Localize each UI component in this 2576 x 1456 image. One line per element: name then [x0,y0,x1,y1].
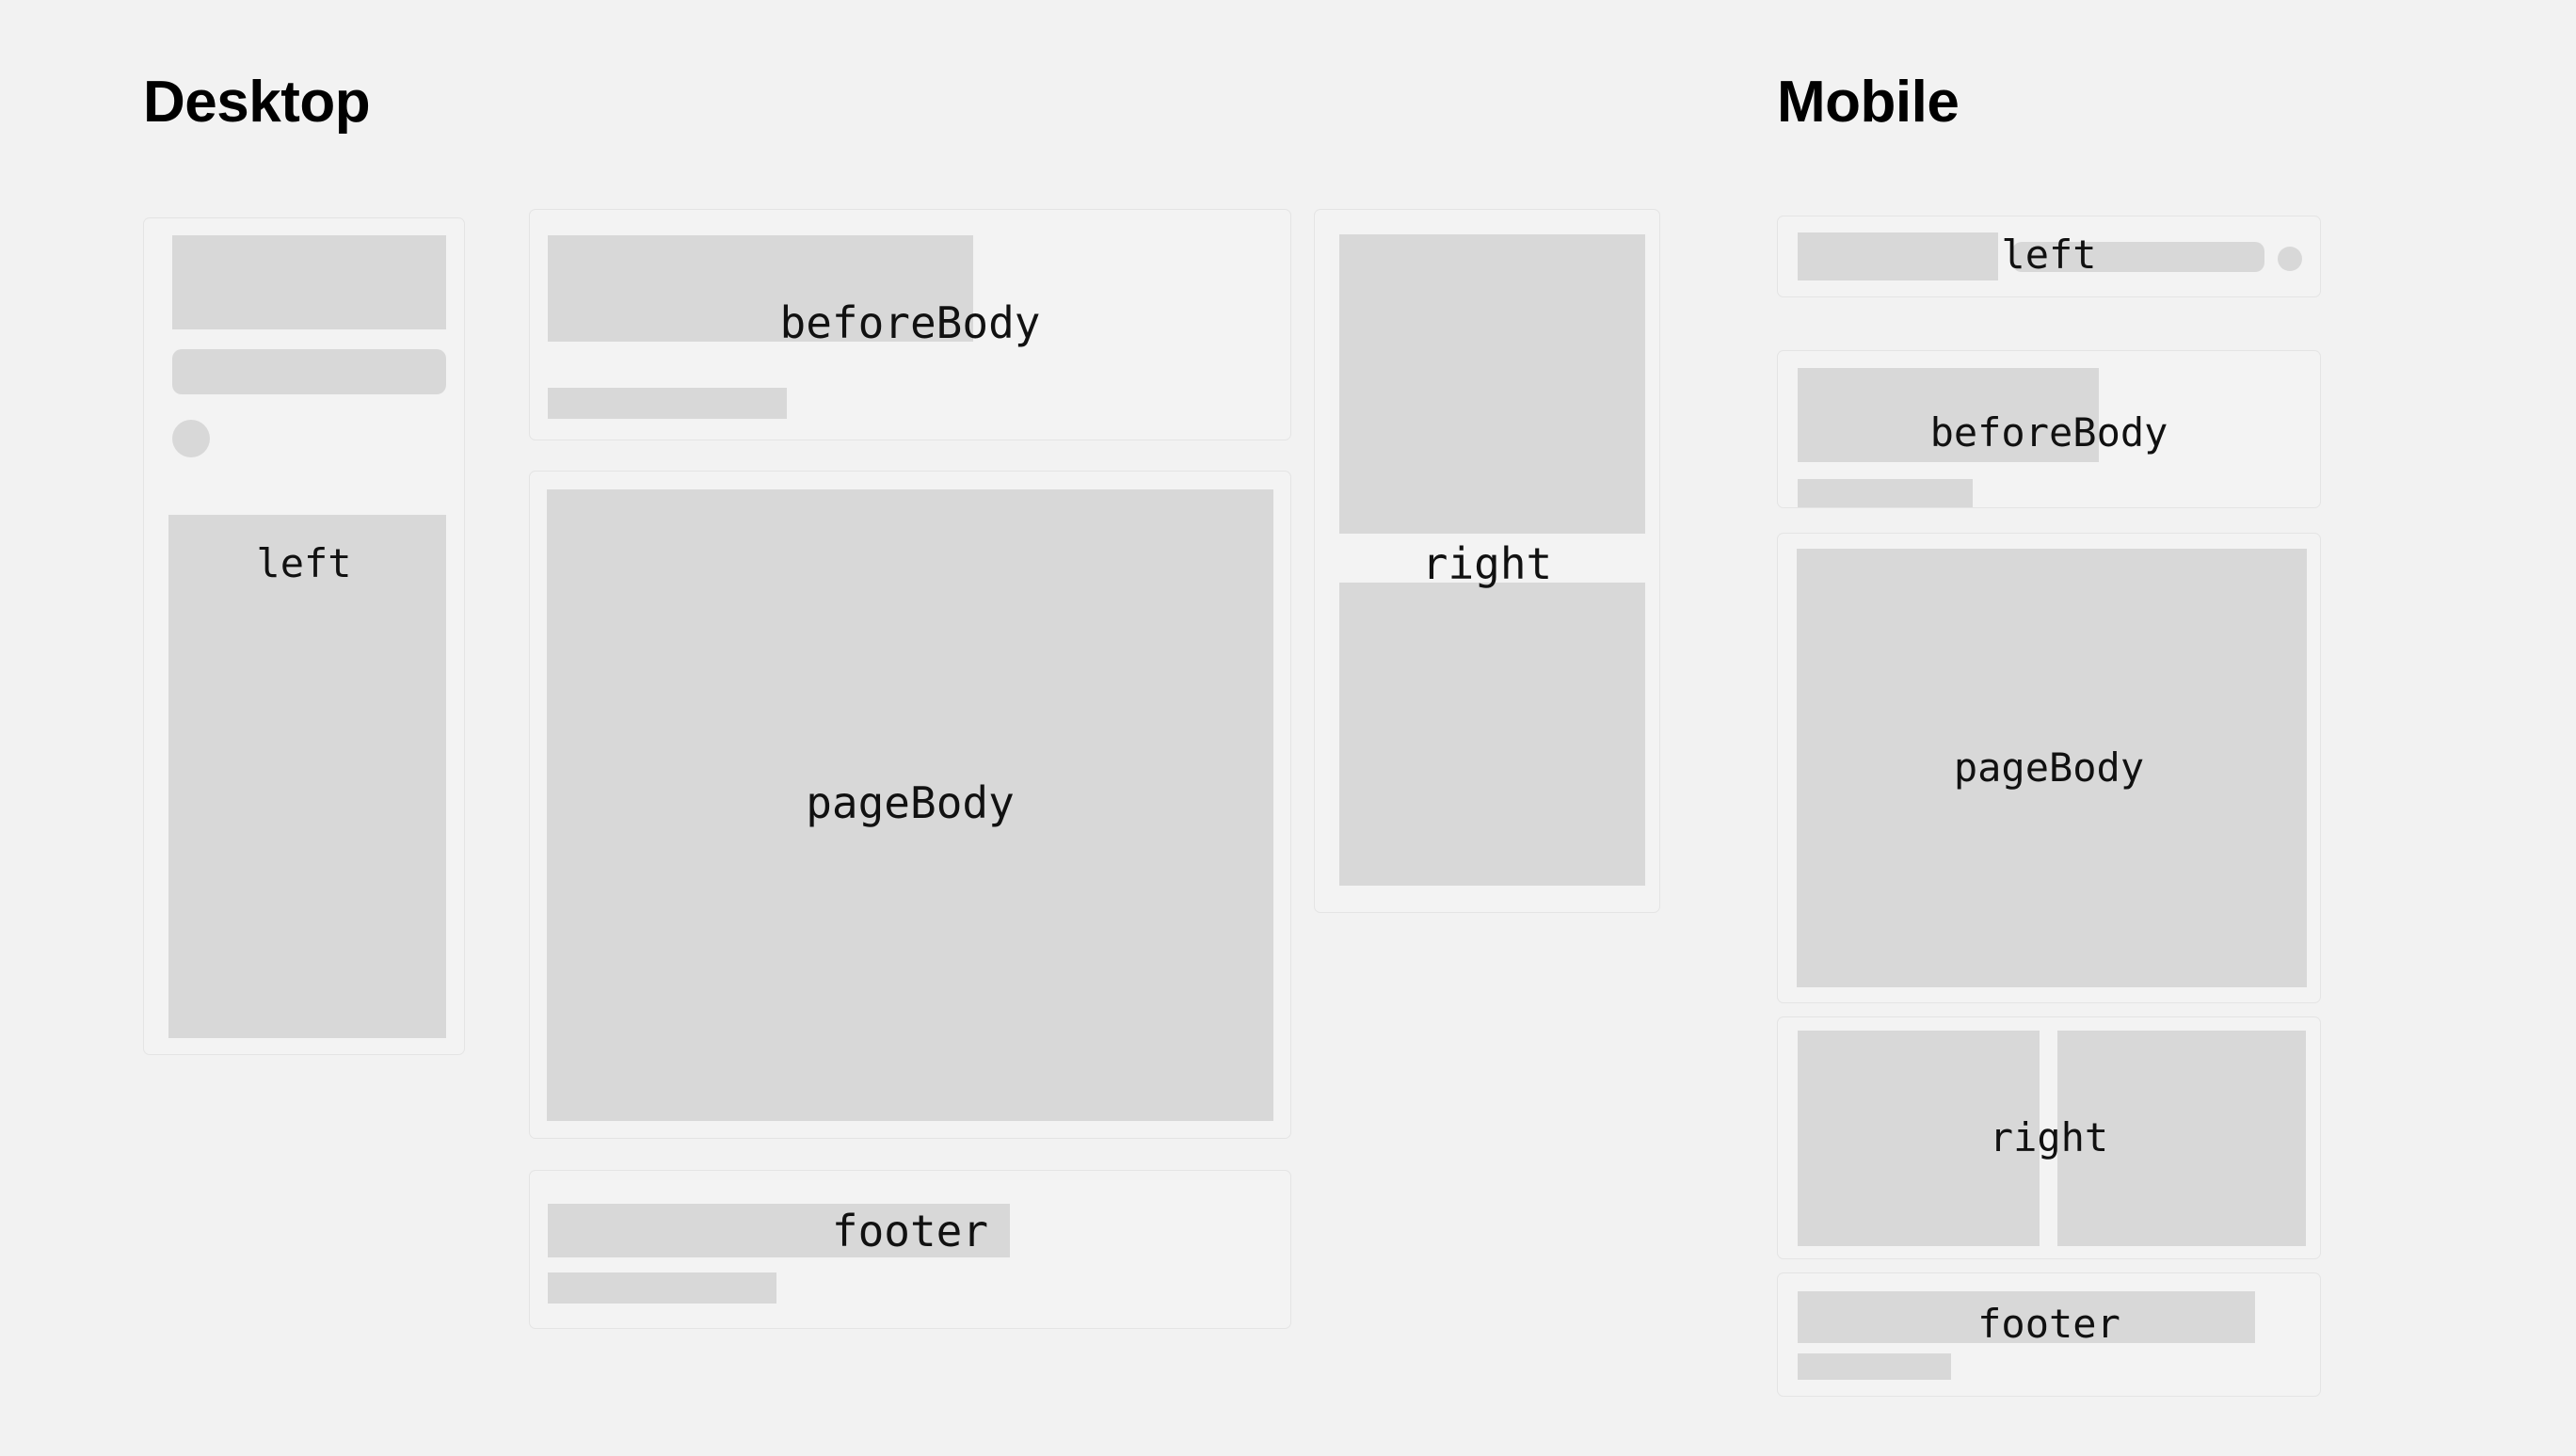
column-title-mobile: Mobile [1777,73,1959,132]
placeholder-block [1798,479,1973,507]
placeholder-avatar [172,420,210,457]
placeholder-block [168,515,446,1038]
placeholder-block [548,1272,776,1304]
placeholder-block [1798,232,1998,280]
placeholder-block [1339,583,1645,886]
placeholder-block [2012,242,2264,272]
placeholder-block [1798,1291,2255,1343]
placeholder-block [1797,549,2307,987]
placeholder-block [548,388,787,419]
placeholder-block [1798,1353,1951,1380]
placeholder-block [1798,368,2099,462]
placeholder-avatar [2278,247,2302,271]
placeholder-block [1339,234,1645,534]
placeholder-block [548,1204,1010,1257]
placeholder-block [172,235,446,329]
placeholder-block [547,489,1273,1121]
wireframe-stage: Desktop Mobile left beforeBody pageBody … [0,0,2576,1456]
column-title-desktop: Desktop [143,73,370,132]
placeholder-block [1798,1031,2040,1246]
placeholder-block [172,349,446,394]
placeholder-block [2057,1031,2306,1246]
placeholder-block [548,235,973,342]
